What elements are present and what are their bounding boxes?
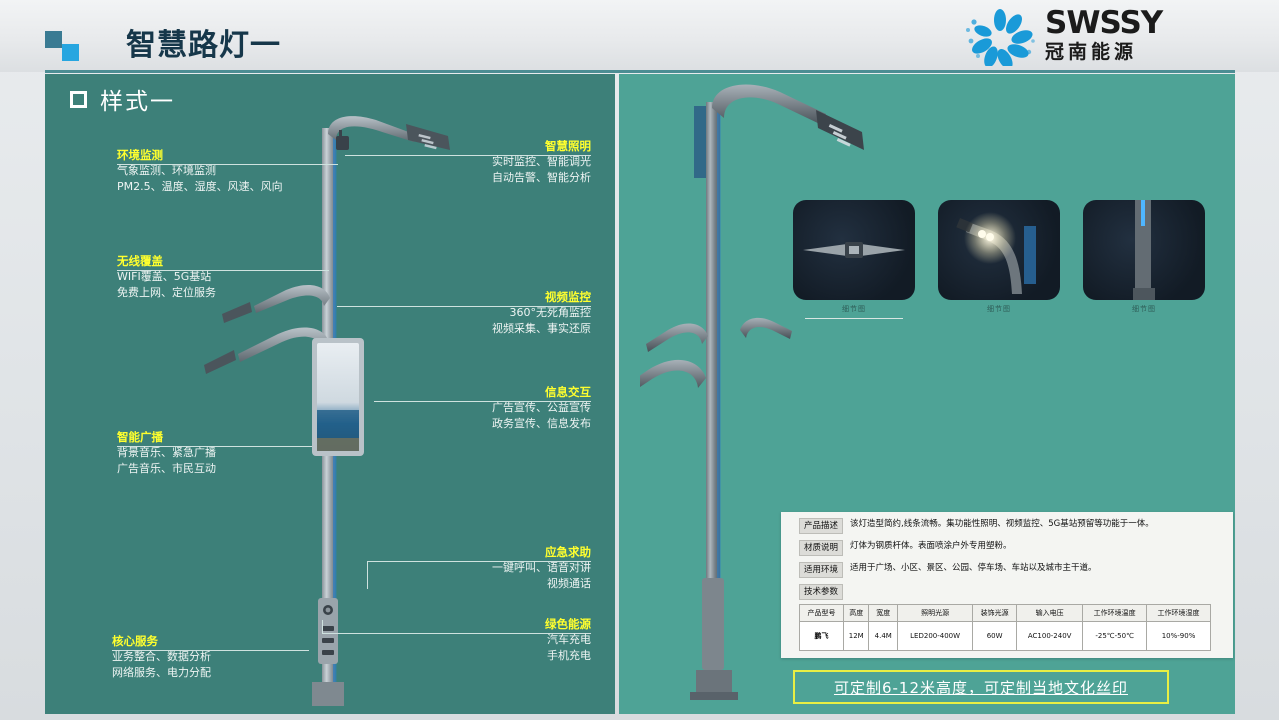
callout-line: 广告音乐、市民互动 <box>117 461 216 477</box>
spec-row-description: 产品描述 该灯造型简约,线条流畅。集功能性照明、视频监控、5G基站预留等功能于一… <box>781 512 1233 534</box>
spec-row-material: 材质说明 灯体为钢质杆体。表面喷涂户外专用塑粉。 <box>781 534 1233 556</box>
callout-wireless-coverage: 无线覆盖 WIFI覆盖、5G基站 免费上网、定位服务 <box>117 254 216 301</box>
column-header: 工作环境湿度 <box>1147 605 1211 622</box>
callout-line: 360°无死角监控 <box>421 305 591 321</box>
column-header: 装饰光源 <box>973 605 1017 622</box>
detail-photo-pole-section <box>1083 200 1205 300</box>
page-title: 智慧路灯一 <box>126 20 281 64</box>
callout-line: 广告宣传、公益宣传 <box>421 400 591 416</box>
spec-text: 适用于广场、小区、景区、公园、停车场、车站以及城市主干道。 <box>850 562 1097 575</box>
callout-title: 智慧照明 <box>421 139 591 154</box>
table-cell: 60W <box>973 622 1017 651</box>
customization-banner: 可定制6-12米高度，可定制当地文化丝印 <box>793 670 1169 704</box>
company-logo: SWSSY 冠南能源 <box>961 6 1261 68</box>
photo-caption-underline <box>805 318 903 319</box>
spec-tag: 产品描述 <box>799 518 843 534</box>
column-header: 输入电压 <box>1017 605 1083 622</box>
callout-line: 视频通话 <box>421 576 591 592</box>
callout-title: 视频监控 <box>421 290 591 305</box>
callout-line: 一键呼叫、语音对讲 <box>421 560 591 576</box>
spec-tag: 适用环境 <box>799 562 843 578</box>
column-header: 工作环境温度 <box>1083 605 1147 622</box>
column-header: 宽度 <box>869 605 898 622</box>
callout-line: 网络服务、电力分配 <box>112 665 211 681</box>
callout-line: 实时监控、智能调光 <box>421 154 591 170</box>
table-row: 鹏飞 12M 4.4M LED200-400W 60W AC100-240V -… <box>800 622 1211 651</box>
spec-table: 产品型号 高度 宽度 照明光源 装饰光源 输入电压 工作环境温度 工作环境湿度 … <box>799 604 1211 651</box>
table-cell: -25℃-50℃ <box>1083 622 1147 651</box>
callout-line: 汽车充电 <box>421 632 591 648</box>
table-cell: 12M <box>843 622 868 651</box>
spec-tag: 材质说明 <box>799 540 843 556</box>
header-square-blue-icon <box>62 44 79 61</box>
section-title: 样式一 <box>100 82 175 116</box>
callout-title: 绿色能源 <box>421 617 591 632</box>
leader-line-emergency-vertical <box>367 561 368 589</box>
leader-line-green-vertical <box>322 620 323 634</box>
callout-title: 信息交互 <box>421 385 591 400</box>
table-cell: 4.4M <box>869 622 898 651</box>
spec-card: 产品描述 该灯造型简约,线条流畅。集功能性照明、视频监控、5G基站预留等功能于一… <box>781 512 1233 658</box>
header-square-dark-icon <box>45 31 62 48</box>
callout-title: 核心服务 <box>112 634 211 649</box>
spec-text: 灯体为钢质杆体。表面喷涂户外专用塑粉。 <box>850 540 1012 553</box>
square-bullet-icon <box>70 91 87 108</box>
logo-chinese-name: 冠南能源 <box>1045 40 1162 64</box>
callout-smart-broadcast: 智能广播 背景音乐、紧急广播 广告音乐、市民互动 <box>117 430 216 477</box>
photo-caption: 细节图 <box>1083 304 1205 314</box>
callout-line: 视频采集、事实还原 <box>421 321 591 337</box>
callout-environment-monitoring: 环境监测 气象监测、环境监测 PM2.5、温度、湿度、风速、风向 <box>117 148 283 195</box>
column-header: 产品型号 <box>800 605 844 622</box>
header-divider <box>45 70 1235 73</box>
callout-emergency-help: 应急求助 一键呼叫、语音对讲 视频通话 <box>421 545 591 592</box>
callout-line: PM2.5、温度、湿度、风速、风向 <box>117 179 283 195</box>
spec-row-parameters: 技术参数 <box>781 578 1233 600</box>
callout-title: 智能广播 <box>117 430 216 445</box>
table-header-row: 产品型号 高度 宽度 照明光源 装饰光源 输入电压 工作环境温度 工作环境湿度 <box>800 605 1211 622</box>
logo-petal-mark-icon <box>961 8 1039 66</box>
callout-line: 自动告警、智能分析 <box>421 170 591 186</box>
callout-smart-lighting: 智慧照明 实时监控、智能调光 自动告警、智能分析 <box>421 139 591 186</box>
callout-green-energy: 绿色能源 汽车充电 手机充电 <box>421 617 591 664</box>
column-header: 高度 <box>843 605 868 622</box>
table-cell: 鹏飞 <box>800 622 844 651</box>
callout-title: 无线覆盖 <box>117 254 216 269</box>
callout-line: 气象监测、环境监测 <box>117 163 283 179</box>
table-cell: AC100-240V <box>1017 622 1083 651</box>
callout-title: 应急求助 <box>421 545 591 560</box>
table-cell: 10%-90% <box>1147 622 1211 651</box>
callout-title: 环境监测 <box>117 148 283 163</box>
callout-line: WIFI覆盖、5G基站 <box>117 269 216 285</box>
detail-photo-lit-lamp <box>938 200 1060 300</box>
callout-line: 手机充电 <box>421 648 591 664</box>
section-heading: 样式一 <box>70 82 175 116</box>
callout-line: 业务整合、数据分析 <box>112 649 211 665</box>
spec-tag: 技术参数 <box>799 584 843 600</box>
spec-row-environment: 适用环境 适用于广场、小区、景区、公园、停车场、车站以及城市主干道。 <box>781 556 1233 578</box>
spec-text: 该灯造型简约,线条流畅。集功能性照明、视频监控、5G基站预留等功能于一体。 <box>850 518 1154 531</box>
callout-line: 背景音乐、紧急广播 <box>117 445 216 461</box>
callout-core-service: 核心服务 业务整合、数据分析 网络服务、电力分配 <box>112 634 211 681</box>
photo-caption: 细节图 <box>938 304 1060 314</box>
photo-caption: 细节图 <box>793 304 915 314</box>
logo-wordmark: SWSSY <box>1045 8 1162 38</box>
callout-information-interaction: 信息交互 广告宣传、公益宣传 政务宣传、信息发布 <box>421 385 591 432</box>
callout-line: 政务宣传、信息发布 <box>421 416 591 432</box>
banner-text: 可定制6-12米高度，可定制当地文化丝印 <box>834 677 1128 698</box>
detail-photo-fixture <box>793 200 915 300</box>
slide: 智慧路灯一 <box>0 0 1279 720</box>
table-cell: LED200-400W <box>898 622 973 651</box>
logo-text: SWSSY 冠南能源 <box>1045 8 1162 64</box>
callout-video-surveillance: 视频监控 360°无死角监控 视频采集、事实还原 <box>421 290 591 337</box>
slide-header: 智慧路灯一 <box>0 0 1279 72</box>
column-header: 照明光源 <box>898 605 973 622</box>
detail-photo-gallery: 细节图 细节图 细节图 <box>793 200 1203 320</box>
callout-line: 免费上网、定位服务 <box>117 285 216 301</box>
